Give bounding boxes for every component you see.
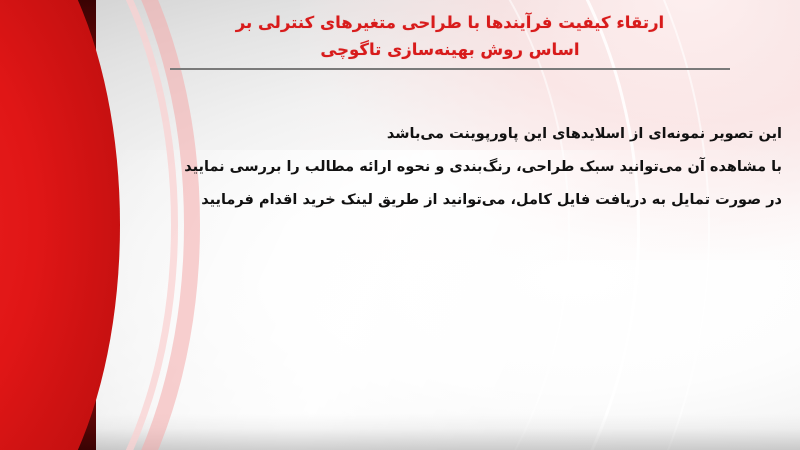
slide-canvas: ارتقاء کیفیت فرآیندها با طراحی متغیرهای … (0, 0, 800, 450)
slide-body: این تصویر نمونه‌ای از اسلایدهای این پاور… (110, 118, 782, 217)
slide-title: ارتقاء کیفیت فرآیندها با طراحی متغیرهای … (120, 10, 780, 70)
decorative-bottom-shadow (96, 414, 800, 450)
slide-title-line-1: ارتقاء کیفیت فرآیندها با طراحی متغیرهای … (120, 10, 780, 37)
body-line-1: این تصویر نمونه‌ای از اسلایدهای این پاور… (110, 118, 782, 151)
slide-title-line-2: اساس روش بهینه‌سازی تاگوچی (120, 37, 780, 64)
title-divider (170, 68, 730, 70)
body-line-3: در صورت تمایل به دریافت فایل کامل، می‌تو… (110, 184, 782, 217)
body-line-2: با مشاهده آن می‌توانید سبک طراحی، رنگ‌بن… (110, 151, 782, 184)
